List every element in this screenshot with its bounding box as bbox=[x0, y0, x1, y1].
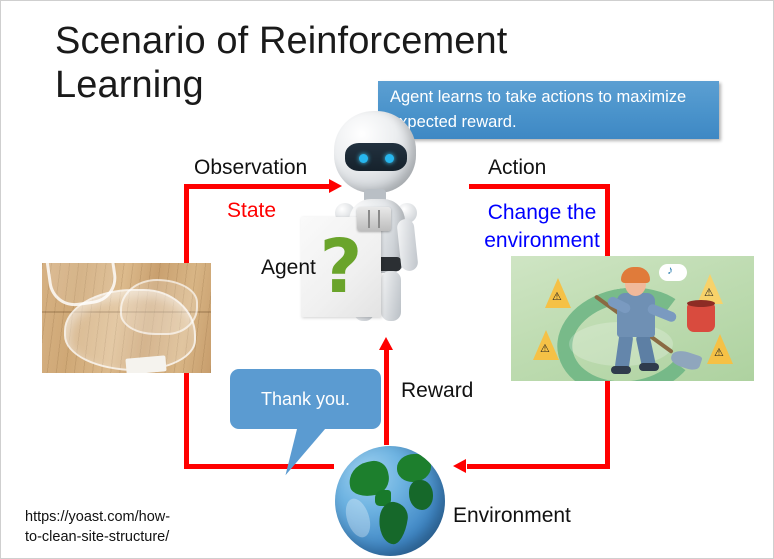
slide-canvas: Scenario of Reinforcement Learning Agent… bbox=[0, 0, 774, 559]
reward-arrow-shaft bbox=[384, 349, 389, 445]
spill-photo bbox=[42, 263, 211, 373]
label-action: Action bbox=[488, 156, 546, 180]
globe-environment-image bbox=[335, 446, 445, 556]
label-environment: Environment bbox=[453, 504, 571, 528]
wet-floor-sign-icon bbox=[545, 278, 571, 308]
label-observation: Observation bbox=[194, 156, 307, 180]
worker-torso bbox=[617, 293, 655, 337]
sign-clip bbox=[357, 207, 391, 231]
label-state: State bbox=[227, 199, 276, 223]
mop-bucket bbox=[687, 304, 715, 332]
wet-floor-sign-icon bbox=[533, 330, 559, 360]
robot-eye-left bbox=[359, 154, 368, 163]
mopping-illustration bbox=[511, 256, 754, 381]
worker-shoe-right bbox=[639, 363, 659, 371]
environment-arrow-head bbox=[453, 459, 466, 473]
robot-visor bbox=[345, 143, 407, 171]
speech-bubble: Thank you. bbox=[230, 369, 381, 429]
label-change-environment: Change the environment bbox=[467, 199, 617, 255]
robot-agent-image: ? bbox=[309, 111, 439, 326]
photo-watermark bbox=[125, 355, 166, 373]
worker-shoe-left bbox=[611, 366, 631, 374]
label-agent: Agent bbox=[261, 256, 316, 280]
continent-africa bbox=[409, 480, 433, 510]
continent-eurasia bbox=[397, 454, 431, 482]
robot-eye-right bbox=[385, 154, 394, 163]
action-arrow-shaft bbox=[469, 184, 610, 189]
environment-arrow-shaft bbox=[467, 464, 610, 469]
wet-floor-sign-icon bbox=[707, 334, 733, 364]
music-note-icon bbox=[659, 264, 687, 281]
continent-south-america bbox=[376, 500, 410, 545]
label-reward: Reward bbox=[401, 379, 473, 403]
globe-glare bbox=[341, 496, 374, 541]
robot-leg-right bbox=[381, 271, 401, 321]
worker-hair bbox=[621, 267, 650, 283]
source-url: https://yoast.com/how-to-clean-site-stru… bbox=[25, 507, 175, 547]
reward-arrow-head bbox=[379, 337, 393, 350]
